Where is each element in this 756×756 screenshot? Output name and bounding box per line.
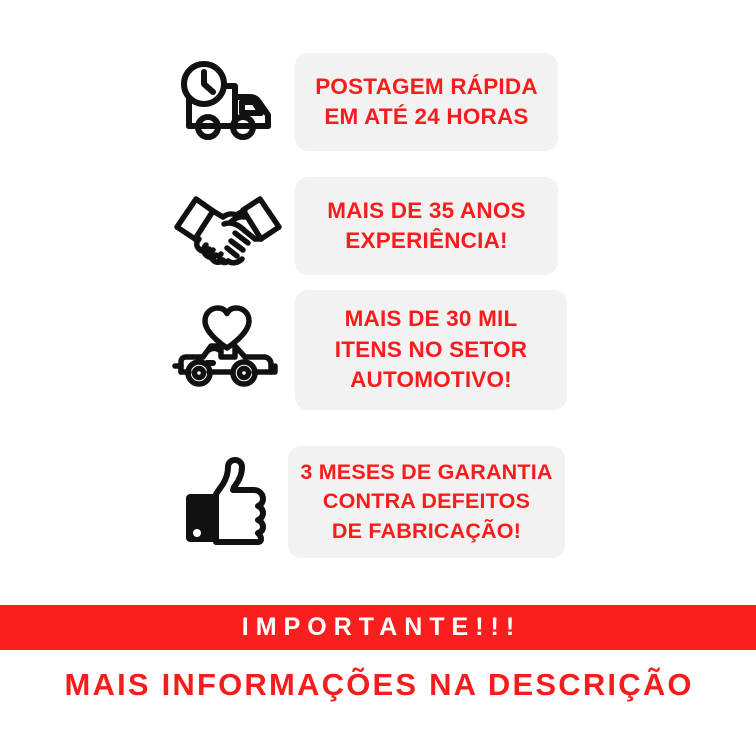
- description-note-text: MAIS INFORMAÇÕES NA DESCRIÇÃO: [62, 667, 693, 703]
- feature-row-automotive: MAIS DE 30 MIL ITENS NO SETOR AUTOMOTIVO…: [160, 288, 600, 412]
- feature-label: MAIS DE 35 ANOS EXPERIÊNCIA!: [327, 196, 525, 257]
- delivery-truck-clock-icon: [160, 56, 295, 148]
- important-banner: IMPORTANTE!!!: [0, 605, 756, 650]
- feature-text-box: 3 MESES DE GARANTIA CONTRA DEFEITOS DE F…: [288, 446, 565, 558]
- car-heart-icon: [160, 300, 295, 400]
- feature-row-experience: MAIS DE 35 ANOS EXPERIÊNCIA!: [160, 168, 600, 284]
- promo-banner-page: POSTAGEM RÁPIDA EM ATÉ 24 HORAS: [0, 0, 756, 756]
- feature-text-box: POSTAGEM RÁPIDA EM ATÉ 24 HORAS: [295, 53, 558, 151]
- feature-label: POSTAGEM RÁPIDA EM ATÉ 24 HORAS: [315, 72, 538, 133]
- feature-label: 3 MESES DE GARANTIA CONTRA DEFEITOS DE F…: [300, 458, 552, 545]
- important-banner-text: IMPORTANTE!!!: [235, 613, 521, 642]
- description-note: MAIS INFORMAÇÕES NA DESCRIÇÃO: [0, 655, 756, 715]
- thumbs-up-icon: [160, 454, 295, 550]
- feature-row-shipping: POSTAGEM RÁPIDA EM ATÉ 24 HORAS: [160, 44, 600, 160]
- feature-row-warranty: 3 MESES DE GARANTIA CONTRA DEFEITOS DE F…: [160, 438, 600, 566]
- handshake-icon: [160, 183, 295, 269]
- feature-text-box: MAIS DE 35 ANOS EXPERIÊNCIA!: [295, 177, 558, 275]
- feature-label: MAIS DE 30 MIL ITENS NO SETOR AUTOMOTIVO…: [335, 304, 527, 395]
- features-list: POSTAGEM RÁPIDA EM ATÉ 24 HORAS: [0, 0, 756, 590]
- feature-text-box: MAIS DE 30 MIL ITENS NO SETOR AUTOMOTIVO…: [295, 290, 567, 410]
